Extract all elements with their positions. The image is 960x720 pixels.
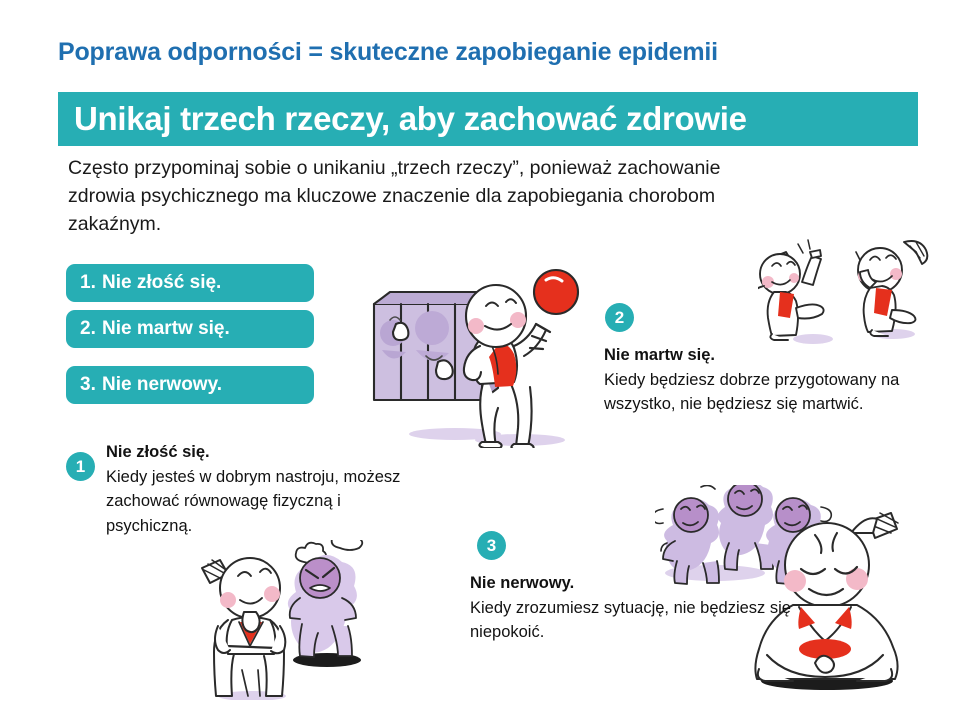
banner-bar: Unikaj trzech rzeczy, aby zachować zdrow… xyxy=(58,92,918,146)
pill-label-3: Nie nerwowy. xyxy=(102,374,222,395)
pill-label-2: Nie martw się. xyxy=(102,318,230,339)
badge-2: 2 xyxy=(605,303,634,332)
intro-paragraph: Często przypominaj sobie o unikaniu „trz… xyxy=(68,154,768,238)
boy-with-ball-by-lockers-illustration xyxy=(360,258,600,448)
pill-item-2[interactable]: 2.Nie martw się. xyxy=(66,310,314,348)
badge-3: 3 xyxy=(477,531,506,560)
pill-number-3: 3. xyxy=(80,366,102,404)
page-kicker: Poprawa odporności = skuteczne zapobiega… xyxy=(58,38,718,67)
pill-number-2: 2. xyxy=(80,310,102,348)
caption-1: Nie złość się. Kiedy jesteś w dobrym nas… xyxy=(106,440,406,538)
caption-3: Nie nerwowy. Kiedy zrozumiesz sytuację, … xyxy=(470,571,800,645)
caption-3-body: Kiedy zrozumiesz sytuację, nie będziesz … xyxy=(470,599,791,642)
caption-2-heading: Nie martw się. xyxy=(604,343,914,368)
happy-kids-jumping-illustration xyxy=(758,222,958,352)
pill-label-1: Nie złość się. xyxy=(102,272,221,293)
infographic-poster: Poprawa odporności = skuteczne zapobiega… xyxy=(0,0,960,720)
badge-1: 1 xyxy=(66,452,95,481)
pill-item-3[interactable]: 3.Nie nerwowy. xyxy=(66,366,314,404)
caption-3-heading: Nie nerwowy. xyxy=(470,571,800,596)
caption-1-heading: Nie złość się. xyxy=(106,440,406,465)
caption-1-body: Kiedy jesteś w dobrym nastroju, możesz z… xyxy=(106,468,400,535)
caption-2: Nie martw się. Kiedy będziesz dobrze prz… xyxy=(604,343,914,417)
caption-2-body: Kiedy będziesz dobrze przygotowany na ws… xyxy=(604,371,899,414)
calm-girl-and-angry-figure-illustration xyxy=(192,540,402,700)
pill-item-1[interactable]: 1.Nie złość się. xyxy=(66,264,314,302)
pill-number-1: 1. xyxy=(80,264,102,302)
banner-title: Unikaj trzech rzeczy, aby zachować zdrow… xyxy=(58,92,918,146)
